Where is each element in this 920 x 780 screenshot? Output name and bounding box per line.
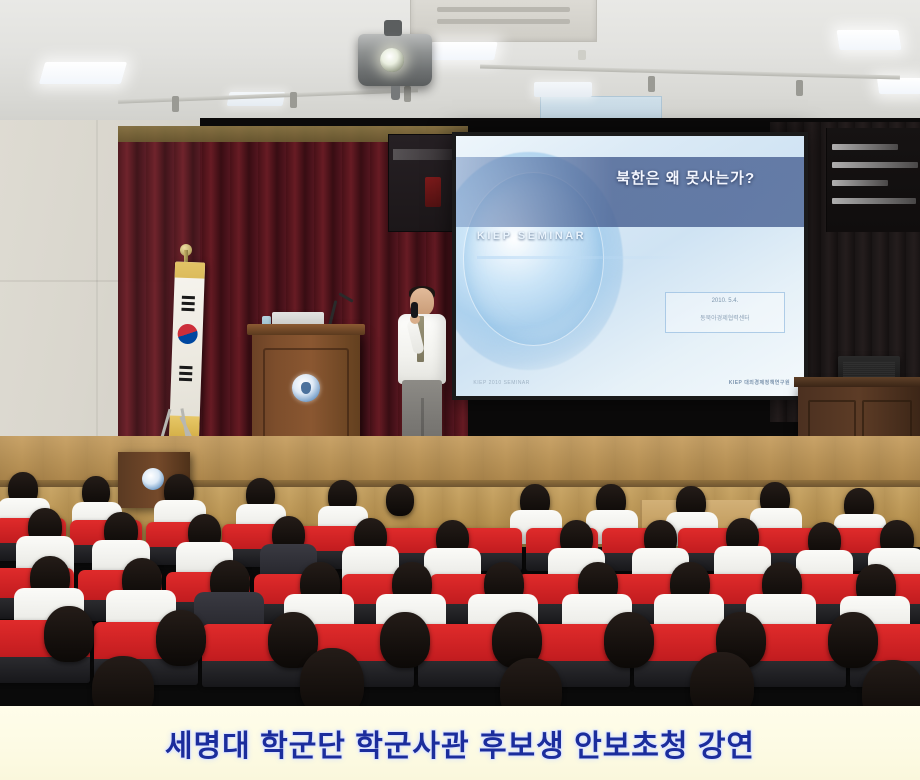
projection-screen-frame: 북한은 왜 못사는가? KIEP SEMINAR 2010. 5.4. 동북아경… [452,132,808,400]
slide-title: 북한은 왜 못사는가? [581,167,790,188]
seminar-photograph: 북한은 왜 못사는가? KIEP SEMINAR 2010. 5.4. 동북아경… [0,0,920,706]
handheld-microphone-icon [411,302,418,318]
track-light-head [172,96,179,112]
slide-date-line1: 2010. 5.4. [666,298,784,304]
slide-footer-left: KIEP 2010 SEMINAR [473,380,530,386]
caption-bar: 세명대 학군단 학군사관 후보생 안보초청 강연 [0,706,920,780]
university-emblem-icon [292,374,320,402]
ceiling-light [534,82,592,97]
projector-lens [380,48,404,72]
flag-fringe-top [175,262,206,279]
banner-right-line [832,144,898,150]
audience-head [690,652,754,706]
slide-date-line2: 동북아경제협력센터 [666,313,784,322]
ceiling-ac-vent [410,0,597,42]
banner-right-line [832,198,916,204]
caption-text: 세명대 학군단 학군사관 후보생 안보초청 강연 [165,721,755,765]
audience-head [300,648,364,706]
audience-head [604,612,654,668]
audience-head [380,612,430,668]
taeguk-circle [177,324,198,345]
sprinkler-head [578,50,586,60]
slide-brand-underline [477,256,686,259]
ceiling-light [877,78,920,94]
projector-mount [384,20,402,36]
flag-trigram [179,378,192,381]
track-light-head [796,80,803,96]
track-light-head [404,86,411,102]
hanging-banner-right [826,128,920,232]
flag-trigram [182,296,195,299]
banner-right-line [832,162,918,168]
flag-trigram [179,366,192,369]
audience-area [0,470,920,706]
ceiling-projector [358,34,432,86]
flag-trigram [181,308,194,311]
projector-foot [391,86,400,100]
flag-trigram [182,302,195,305]
ceiling-light [428,42,497,60]
banner-left-red-mark [425,177,441,207]
ceiling-light [836,30,901,50]
slide-footer-right: KIEP 대외경제정책연구원 [729,379,790,386]
audience-head [156,610,206,666]
flag-trigram [179,372,192,375]
banner-left-text-strip [393,149,457,160]
photo-page: 북한은 왜 못사는가? KIEP SEMINAR 2010. 5.4. 동북아경… [0,0,920,780]
audience-head [828,612,878,668]
side-table-top [794,377,920,387]
track-light-head [648,76,655,92]
audience-head [386,484,414,516]
audience-head [44,606,94,662]
hanging-banner-left [388,134,462,232]
slide-date-box: 2010. 5.4. 동북아경제협력센터 [665,292,785,333]
slide-brand: KIEP SEMINAR [477,230,586,242]
track-light-head [290,92,297,108]
banner-right-line [832,180,888,186]
ceiling-light [39,62,127,84]
podium-top [247,324,365,335]
projection-screen: 북한은 왜 못사는가? KIEP SEMINAR 2010. 5.4. 동북아경… [456,136,804,396]
